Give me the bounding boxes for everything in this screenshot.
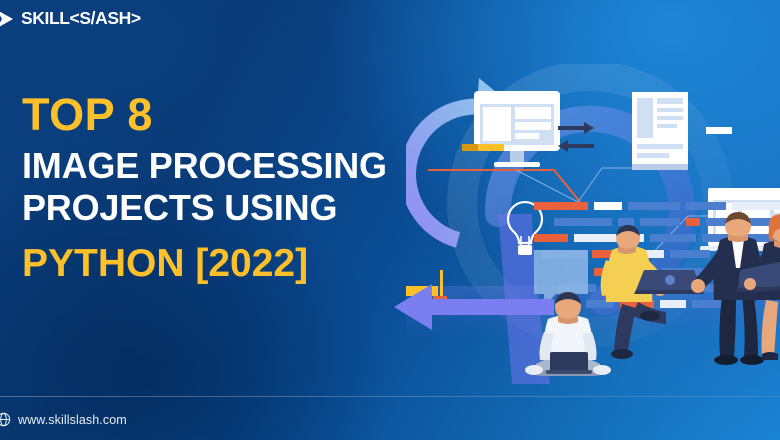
illustration [406, 64, 780, 394]
footer-divider [0, 396, 780, 397]
headline-line-4: PYTHON [2022] [22, 244, 387, 283]
brand-logo[interactable]: SKILL<S/ASH> [0, 8, 141, 29]
yellow-widget-mid [462, 144, 504, 151]
brand-logo-text: SKILL<S/ASH> [21, 8, 141, 29]
headline-line-3: PROJECTS USING [22, 187, 387, 229]
left-arrow-icon [394, 283, 554, 331]
small-white-dash [706, 127, 732, 134]
footer-bar: www.skillslash.com [0, 412, 127, 427]
document-card-icon [632, 92, 688, 170]
exchange-arrows-icon [558, 122, 594, 152]
headline-line-2: IMAGE PROCESSING [22, 145, 387, 187]
play-triangle-icon [0, 9, 16, 29]
footer-url-text[interactable]: www.skillslash.com [18, 413, 127, 427]
headline-line-1: TOP 8 [22, 92, 387, 137]
headline-block: TOP 8 IMAGE PROCESSING PROJECTS USING PY… [22, 92, 387, 283]
promo-banner: SKILL<S/ASH> TOP 8 IMAGE PROCESSING PROJ… [0, 0, 780, 440]
globe-icon [0, 412, 11, 427]
